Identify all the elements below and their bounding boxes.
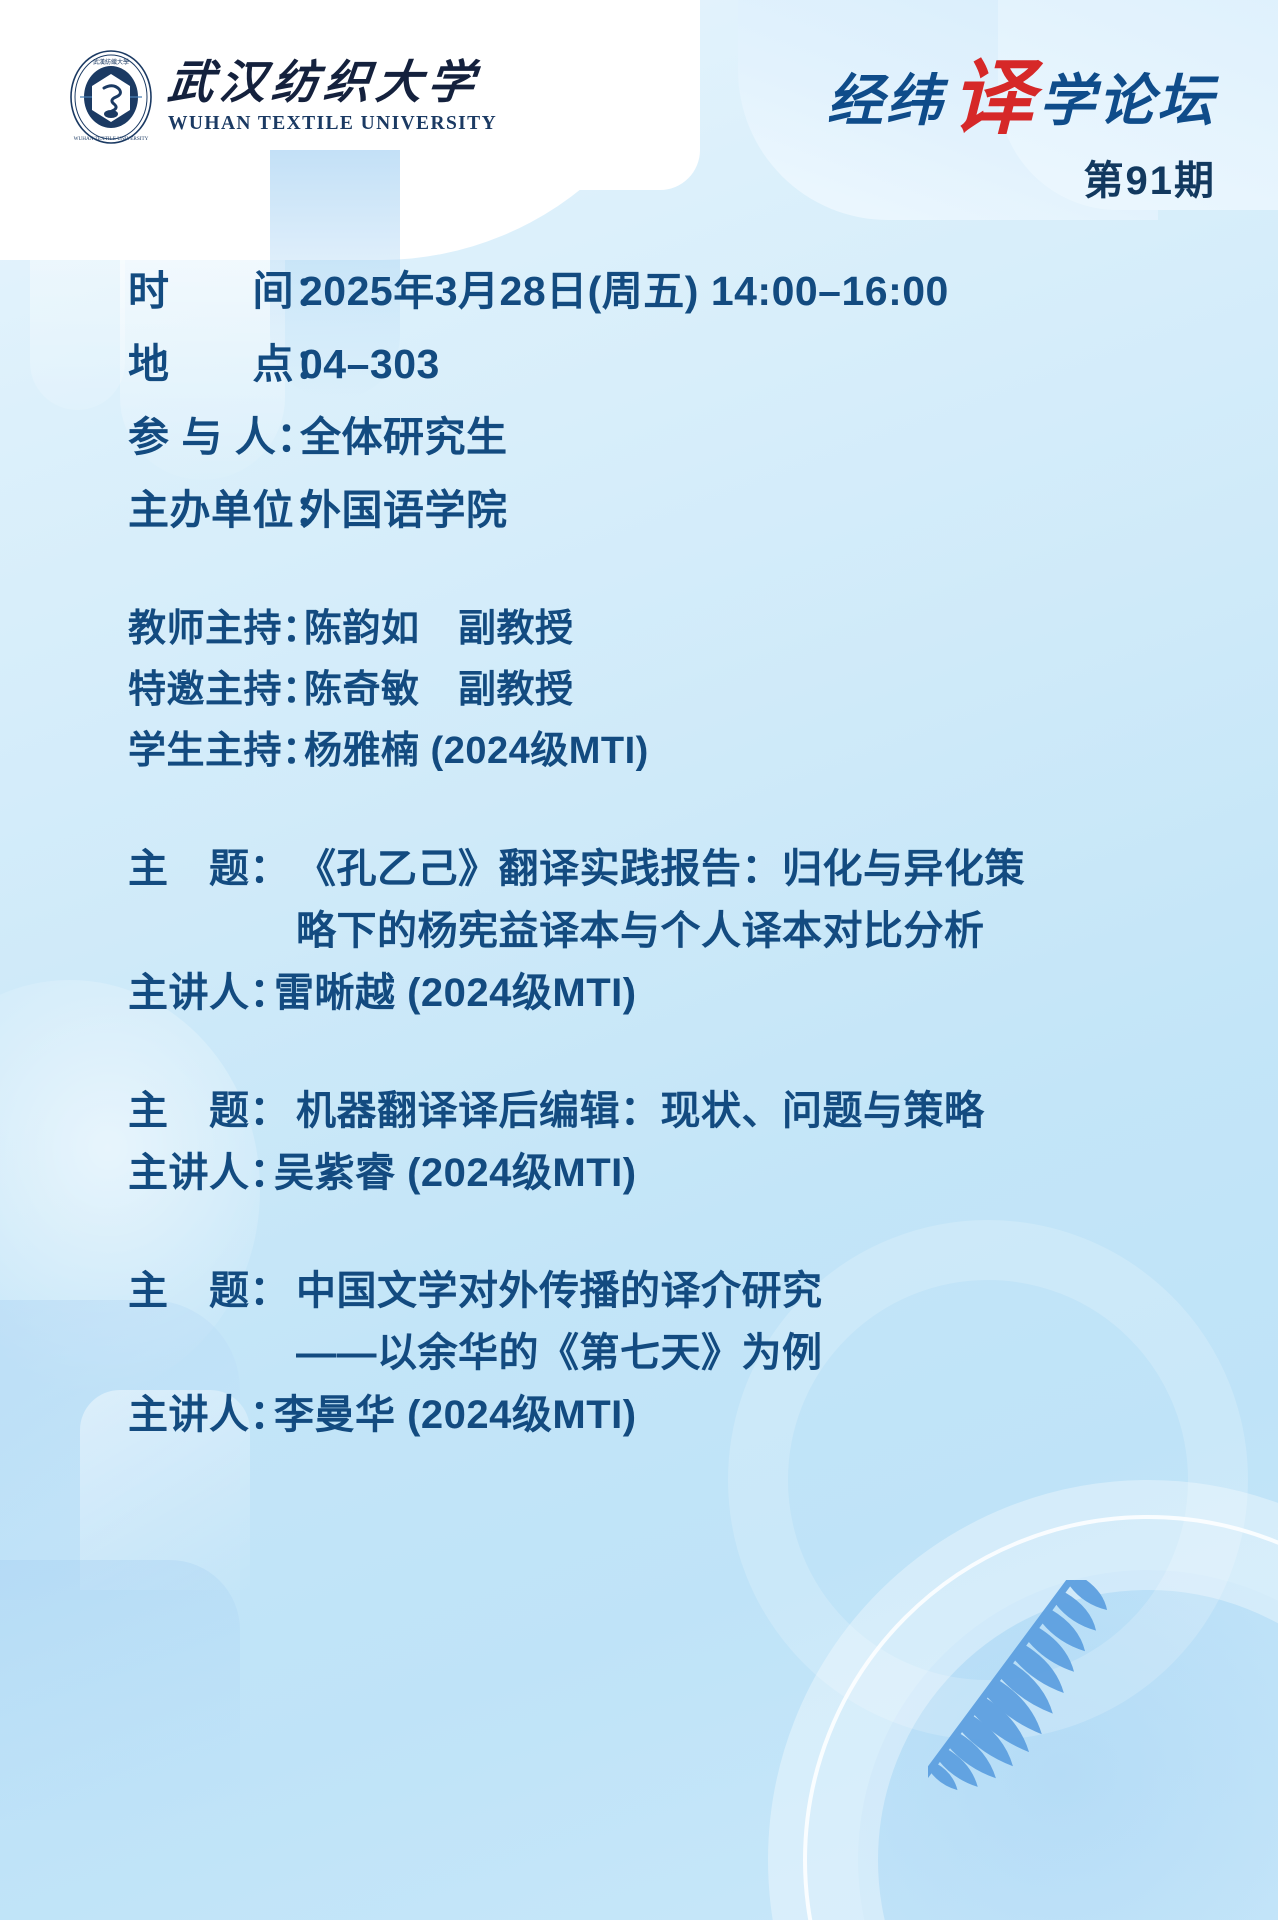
audience-label: 参 与 人： [128, 401, 300, 474]
place-label: 地 点： [128, 328, 300, 401]
forum-logo: 经纬 译 学论坛 第91期 [827, 52, 1216, 206]
poster-root: 武漢紡織大學 WUHAN TEXTILE UNIVERSITY 武汉纺织大学 W… [0, 0, 1278, 1920]
info-row-time: 时 间： 2025年3月28日(周五) 14:00–16:00 [128, 255, 1278, 328]
guest-host-label: 特邀主持： [128, 660, 304, 721]
audience-value: 全体研究生 [300, 401, 508, 474]
svg-text:WUHAN TEXTILE UNIVERSITY: WUHAN TEXTILE UNIVERSITY [74, 136, 149, 142]
forum-title-accent: 译 [951, 58, 1033, 140]
university-name-cn: 武汉纺织大学 [166, 60, 500, 106]
poster-header: 武漢紡織大學 WUHAN TEXTILE UNIVERSITY 武汉纺织大学 W… [0, 0, 1278, 200]
organizer-label: 主办单位： [128, 474, 300, 547]
rounded-shape-bottom-left-3 [0, 1560, 240, 1820]
university-logo: 武漢紡織大學 WUHAN TEXTILE UNIVERSITY 武汉纺织大学 W… [68, 48, 497, 146]
student-host-label: 学生主持： [128, 721, 304, 782]
talk-1-topic-text-line2: 略下的杨宪益译本与个人译本对比分析 [296, 900, 985, 962]
time-value: 2025年3月28日(周五) 14:00–16:00 [300, 255, 949, 328]
host-row-student: 学生主持： 杨雅楠 (2024级MTI) [128, 721, 1278, 782]
forum-title-part3: 学论坛 [1039, 74, 1216, 130]
talk-1-topic-text-line1: 《孔乙己》翻译实践报告：归化与异化策 [296, 838, 1025, 900]
talk-2-topic-text-line1: 机器翻译译后编辑：现状、问题与策略 [296, 1080, 985, 1142]
forum-issue-number: 第91期 [827, 148, 1216, 206]
university-name-en: WUHAN TEXTILE UNIVERSITY [168, 114, 497, 134]
talk-3-speaker: 主讲人： 李曼华 (2024级MTI) [128, 1384, 1278, 1446]
info-row-place: 地 点： 04–303 [128, 328, 1278, 401]
university-crest-icon: 武漢紡織大學 WUHAN TEXTILE UNIVERSITY [68, 48, 154, 146]
talk-3-speaker-label: 主讲人： [128, 1384, 274, 1446]
fern-leaf-icon [928, 1580, 1258, 1910]
talk-2-topic-line1: 主 题： 机器翻译译后编辑：现状、问题与策略 [128, 1080, 1278, 1142]
poster-content: 时 间： 2025年3月28日(周五) 14:00–16:00 地 点： 04–… [0, 255, 1278, 1446]
place-value: 04–303 [300, 328, 440, 401]
guest-host-value: 陈奇敏 副教授 [304, 660, 574, 721]
host-row-guest: 特邀主持： 陈奇敏 副教授 [128, 660, 1278, 721]
time-label: 时 间： [128, 255, 300, 328]
talk-3-topic-text-line1: 中国文学对外传播的译介研究 [296, 1260, 823, 1322]
talk-3-speaker-value: 李曼华 (2024级MTI) [274, 1384, 637, 1446]
spacer-talk-1 [128, 782, 1278, 838]
talk-1-topic-label: 主 题： [128, 838, 296, 900]
info-row-audience: 参 与 人： 全体研究生 [128, 401, 1278, 474]
talk-2-speaker-label: 主讲人： [128, 1142, 274, 1204]
talk-1-speaker-label: 主讲人： [128, 962, 274, 1024]
spacer-talk-2 [128, 1024, 1278, 1080]
teacher-host-value: 陈韵如 副教授 [304, 599, 574, 660]
student-host-value: 杨雅楠 (2024级MTI) [304, 721, 649, 782]
talk-1-speaker: 主讲人： 雷晰越 (2024级MTI) [128, 962, 1278, 1024]
talk-2-topic-label: 主 题： [128, 1080, 296, 1142]
forum-title-part1: 经纬 [827, 74, 945, 130]
organizer-value: 外国语学院 [300, 474, 508, 547]
talk-2-speaker: 主讲人： 吴紫睿 (2024级MTI) [128, 1142, 1278, 1204]
talk-1-topic-line2: 略下的杨宪益译本与个人译本对比分析 [128, 900, 1278, 962]
svg-text:武漢紡織大學: 武漢紡織大學 [93, 58, 129, 66]
spacer-hosts [128, 547, 1278, 599]
info-row-organizer: 主办单位： 外国语学院 [128, 474, 1278, 547]
talk-3-topic-label: 主 题： [128, 1260, 296, 1322]
talk-3-topic-line2: ——以余华的《第七天》为例 [128, 1322, 1278, 1384]
talk-1-speaker-value: 雷晰越 (2024级MTI) [274, 962, 637, 1024]
teacher-host-label: 教师主持： [128, 599, 304, 660]
talk-1-topic-line1: 主 题： 《孔乙己》翻译实践报告：归化与异化策 [128, 838, 1278, 900]
talk-3-topic-line1: 主 题： 中国文学对外传播的译介研究 [128, 1260, 1278, 1322]
spacer-talk-3 [128, 1204, 1278, 1260]
talk-3-topic-text-line2: ——以余华的《第七天》为例 [296, 1322, 823, 1384]
host-row-teacher: 教师主持： 陈韵如 副教授 [128, 599, 1278, 660]
talk-2-speaker-value: 吴紫睿 (2024级MTI) [274, 1142, 637, 1204]
